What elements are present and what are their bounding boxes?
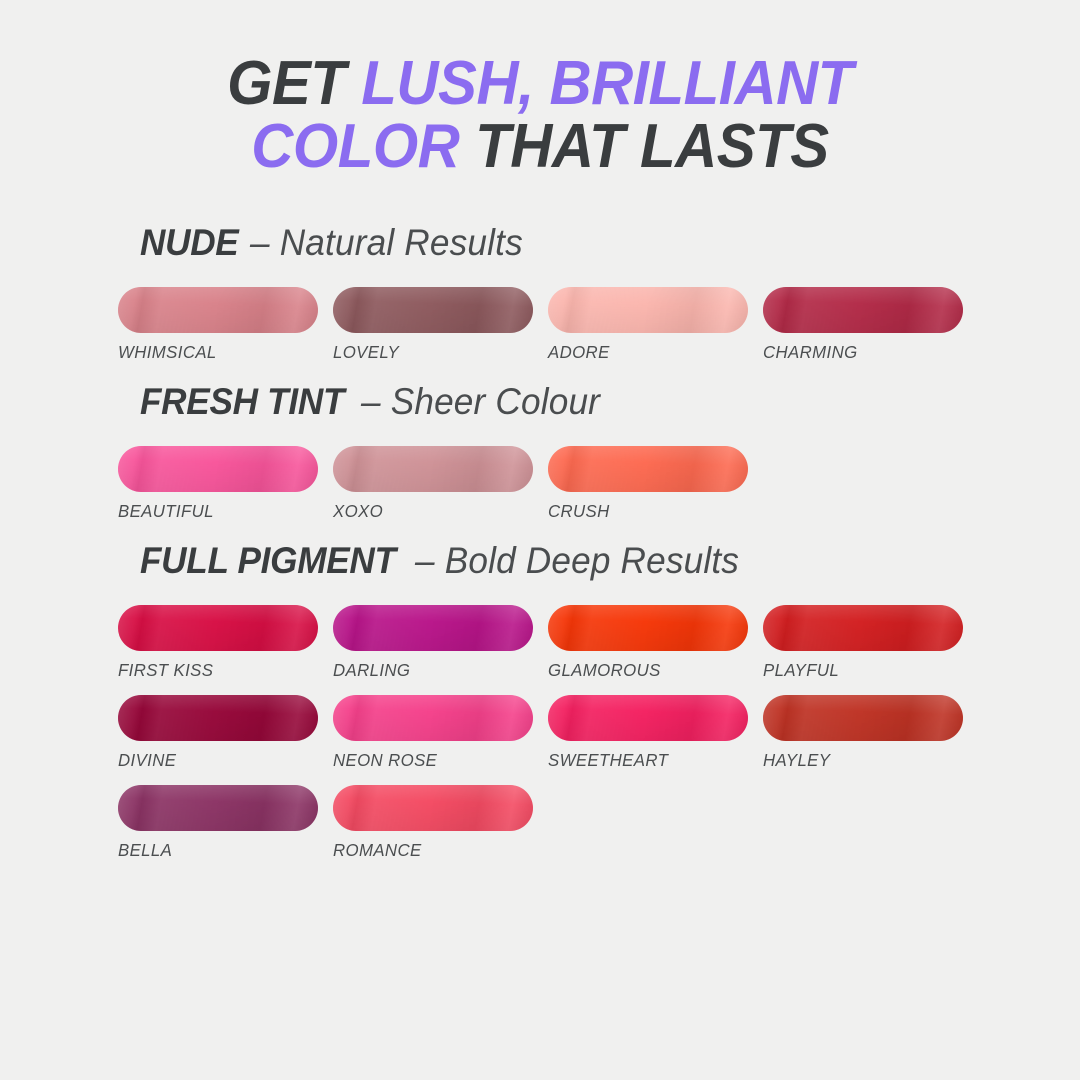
title-text-color: COLOR bbox=[251, 112, 459, 181]
swatch-item[interactable]: WHIMSICAL bbox=[118, 287, 333, 363]
swatch-row: BEAUTIFULXOXOCRUSH bbox=[118, 446, 1080, 536]
section-heading-name: FULL PIGMENT bbox=[140, 542, 396, 579]
swatch-item[interactable]: DARLING bbox=[333, 605, 548, 681]
swatch-color-chip[interactable] bbox=[333, 785, 533, 831]
section-heading: NUDE– Natural Results bbox=[140, 224, 1080, 261]
swatch-item[interactable]: NEON ROSE bbox=[333, 695, 548, 771]
swatch-row: WHIMSICALLOVELYADORECHARMING bbox=[118, 287, 1080, 377]
title-text-get: GET bbox=[227, 49, 361, 118]
swatch-row: DIVINENEON ROSESWEETHEARTHAYLEY bbox=[118, 695, 1080, 785]
swatch-item[interactable]: GLAMOROUS bbox=[548, 605, 763, 681]
swatch-item[interactable]: XOXO bbox=[333, 446, 548, 522]
swatch-label: ROMANCE bbox=[333, 840, 422, 861]
swatch-label: LOVELY bbox=[333, 342, 399, 363]
swatch-grid: FIRST KISSDARLINGGLAMOROUSPLAYFULDIVINEN… bbox=[118, 605, 1080, 875]
swatch-item[interactable]: LOVELY bbox=[333, 287, 548, 363]
shade-section: FULL PIGMENT– Bold Deep ResultsFIRST KIS… bbox=[0, 542, 1080, 875]
swatch-label: CRUSH bbox=[548, 501, 610, 522]
swatch-label: FIRST KISS bbox=[118, 660, 213, 681]
swatch-color-chip[interactable] bbox=[118, 446, 318, 492]
swatch-item[interactable]: FIRST KISS bbox=[118, 605, 333, 681]
swatch-color-chip[interactable] bbox=[333, 695, 533, 741]
title-text-lush-brilliant: LUSH, BRILLIANT bbox=[361, 49, 853, 118]
swatch-row: BELLAROMANCE bbox=[118, 785, 1080, 875]
section-heading-name: FRESH TINT bbox=[140, 383, 344, 420]
swatch-label: SWEETHEART bbox=[548, 750, 668, 771]
swatch-color-chip[interactable] bbox=[763, 605, 963, 651]
swatch-label: CHARMING bbox=[763, 342, 858, 363]
swatch-item[interactable]: CHARMING bbox=[763, 287, 978, 363]
swatch-color-chip[interactable] bbox=[118, 605, 318, 651]
section-heading-tagline: – Bold Deep Results bbox=[415, 542, 739, 579]
swatch-label: PLAYFUL bbox=[763, 660, 839, 681]
swatch-color-chip[interactable] bbox=[763, 287, 963, 333]
swatch-label: GLAMOROUS bbox=[548, 660, 661, 681]
swatch-item[interactable]: BEAUTIFUL bbox=[118, 446, 333, 522]
swatch-item[interactable]: ROMANCE bbox=[333, 785, 548, 861]
swatch-label: XOXO bbox=[333, 501, 383, 522]
swatch-color-chip[interactable] bbox=[333, 605, 533, 651]
swatch-item[interactable]: SWEETHEART bbox=[548, 695, 763, 771]
swatch-color-chip[interactable] bbox=[333, 446, 533, 492]
swatch-item[interactable]: CRUSH bbox=[548, 446, 763, 522]
swatch-item[interactable]: ADORE bbox=[548, 287, 763, 363]
swatch-color-chip[interactable] bbox=[763, 695, 963, 741]
swatch-color-chip[interactable] bbox=[118, 287, 318, 333]
swatch-color-chip[interactable] bbox=[548, 605, 748, 651]
swatch-color-chip[interactable] bbox=[548, 695, 748, 741]
page-title: GET LUSH, BRILLIANT COLOR THAT LASTS bbox=[0, 0, 1080, 178]
section-heading-tagline: – Natural Results bbox=[250, 224, 523, 261]
swatch-label: NEON ROSE bbox=[333, 750, 437, 771]
swatch-grid: WHIMSICALLOVELYADORECHARMING bbox=[118, 287, 1080, 377]
section-heading-name: NUDE bbox=[140, 224, 238, 261]
swatch-color-chip[interactable] bbox=[118, 695, 318, 741]
swatch-label: DIVINE bbox=[118, 750, 176, 771]
swatch-color-chip[interactable] bbox=[548, 446, 748, 492]
swatch-item[interactable]: BELLA bbox=[118, 785, 333, 861]
swatch-item[interactable]: HAYLEY bbox=[763, 695, 978, 771]
swatch-label: BEAUTIFUL bbox=[118, 501, 214, 522]
page-title-line-1: GET LUSH, BRILLIANT bbox=[32, 52, 1047, 115]
section-heading: FRESH TINT– Sheer Colour bbox=[140, 383, 1080, 420]
swatch-label: WHIMSICAL bbox=[118, 342, 217, 363]
swatch-grid: BEAUTIFULXOXOCRUSH bbox=[118, 446, 1080, 536]
swatch-color-chip[interactable] bbox=[548, 287, 748, 333]
swatch-label: DARLING bbox=[333, 660, 410, 681]
section-heading-tagline: – Sheer Colour bbox=[361, 383, 600, 420]
swatch-label: HAYLEY bbox=[763, 750, 830, 771]
page-title-line-2: COLOR THAT LASTS bbox=[32, 115, 1047, 178]
swatch-color-chip[interactable] bbox=[118, 785, 318, 831]
swatch-label: BELLA bbox=[118, 840, 172, 861]
section-heading: FULL PIGMENT– Bold Deep Results bbox=[140, 542, 1080, 579]
lipstick-shade-chart: { "page": { "background_color": "#f0f0ef… bbox=[0, 0, 1080, 1080]
shade-section: FRESH TINT– Sheer ColourBEAUTIFULXOXOCRU… bbox=[0, 383, 1080, 536]
swatch-row: FIRST KISSDARLINGGLAMOROUSPLAYFUL bbox=[118, 605, 1080, 695]
swatch-item[interactable]: PLAYFUL bbox=[763, 605, 978, 681]
shade-sections: NUDE– Natural ResultsWHIMSICALLOVELYADOR… bbox=[0, 224, 1080, 875]
title-text-that-lasts: THAT LASTS bbox=[459, 112, 828, 181]
swatch-item[interactable]: DIVINE bbox=[118, 695, 333, 771]
swatch-color-chip[interactable] bbox=[333, 287, 533, 333]
swatch-label: ADORE bbox=[548, 342, 610, 363]
shade-section: NUDE– Natural ResultsWHIMSICALLOVELYADOR… bbox=[0, 224, 1080, 377]
